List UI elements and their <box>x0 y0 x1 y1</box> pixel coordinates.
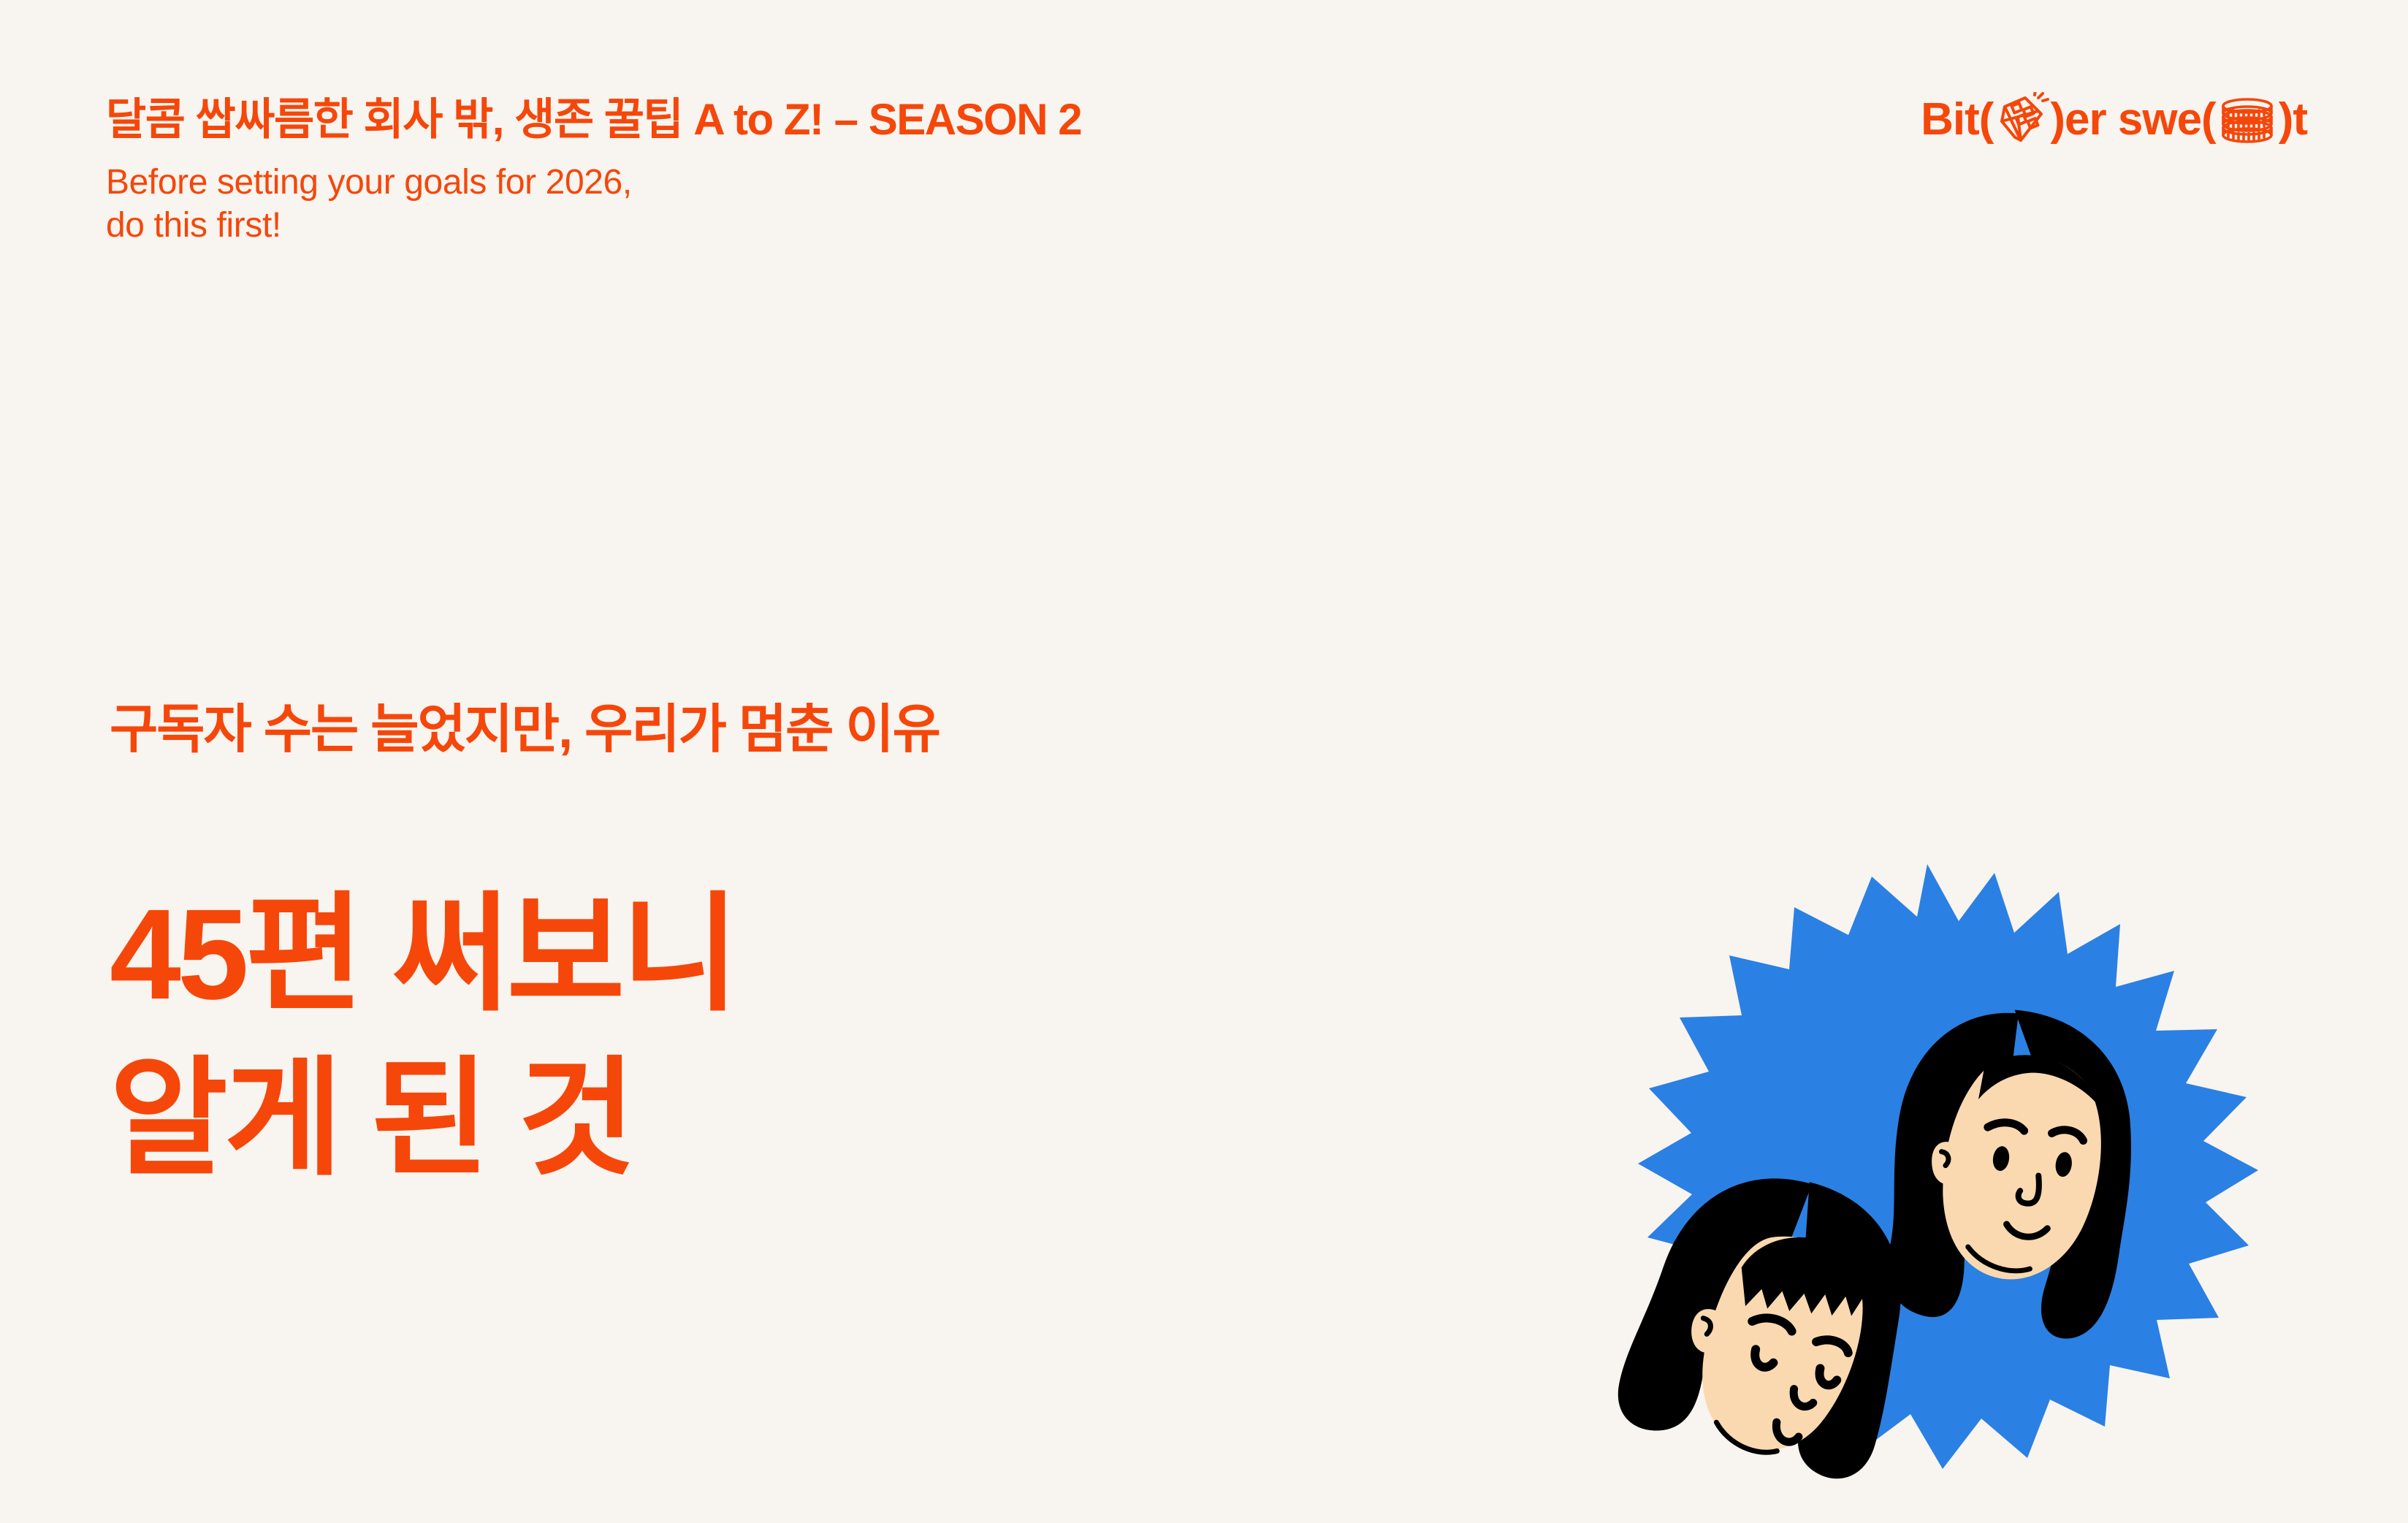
chocolate-bar-icon <box>1993 92 2050 148</box>
logo-text-part3: )t <box>2279 97 2307 142</box>
logo-text-part1: Bit( <box>1921 97 1993 142</box>
logo-text-part2: )er swe( <box>2050 97 2215 142</box>
series-subtitle: Before setting your goals for 2026, do t… <box>106 161 1640 247</box>
series-title: 달콤 쌉싸름한 회사 밖, 생존 꿀팁 A to Z! – SEASON 2 <box>106 96 1640 142</box>
page-title: 45편 써보니 알게 된 것 <box>110 873 736 1202</box>
kicker-line: 구독자 수는 늘었지만, 우리가 멈춘 이유 <box>110 701 940 759</box>
poster-canvas: 달콤 쌉싸름한 회사 밖, 생존 꿀팁 A to Z! – SEASON 2 B… <box>0 0 2408 1523</box>
illustration-two-women <box>1547 851 2307 1523</box>
stacked-coins-icon <box>2216 93 2279 147</box>
header-block: 달콤 쌉싸름한 회사 밖, 생존 꿀팁 A to Z! – SEASON 2 B… <box>106 96 1640 247</box>
brand-logo[interactable]: Bit( )er swe( <box>1921 92 2307 148</box>
